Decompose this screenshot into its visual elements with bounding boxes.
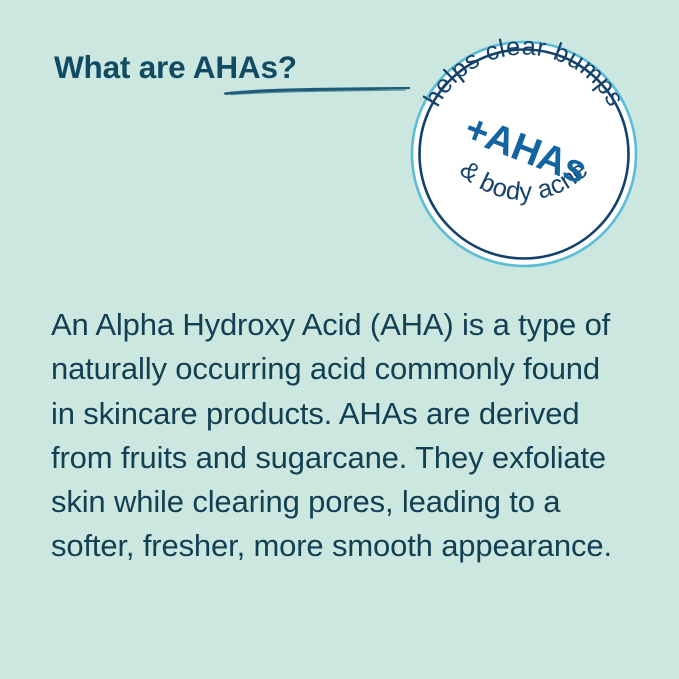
heading-block: What are AHAs? [54, 47, 394, 107]
badge-svg: helps clear bumps & body acne +AHAs [408, 38, 640, 270]
page-title: What are AHAs? [54, 47, 394, 87]
info-card: What are AHAs? helps clear bumps [0, 0, 679, 679]
body-paragraph: An Alpha Hydroxy Acid (AHA) is a type of… [51, 303, 621, 569]
aha-seal-badge: helps clear bumps & body acne +AHAs [408, 38, 640, 270]
body-copy: An Alpha Hydroxy Acid (AHA) is a type of… [51, 303, 621, 569]
